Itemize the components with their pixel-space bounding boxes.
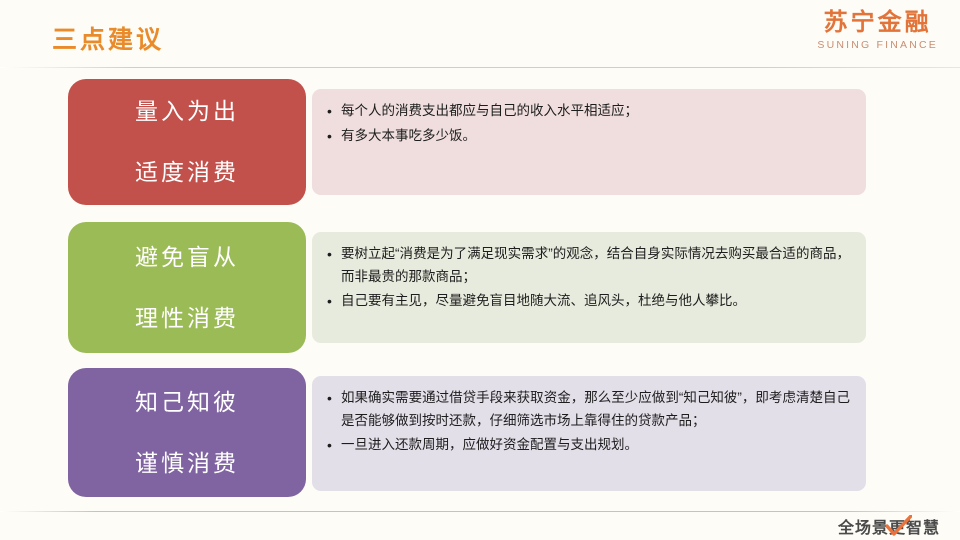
list-item: 每个人的消费支出都应与自己的收入水平相适应； (326, 100, 850, 123)
list-item: 有多大本事吃多少饭。 (326, 125, 850, 148)
brand-name-en: SUNING FINANCE (817, 40, 938, 51)
advice-card-3[interactable]: 知己知彼 谨慎消费 (68, 368, 306, 497)
advice-card-3-line-1: 知己知彼 (135, 391, 239, 414)
advice-card-2-line-2: 理性消费 (135, 307, 239, 330)
brand-name-cn: 苏宁金融 (817, 11, 938, 35)
check-mark-icon (886, 515, 912, 537)
advice-panel-3: 如果确实需要通过借贷手段来获取资金，那么至少应做到“知己知彼”，即考虑清楚自己是… (312, 376, 866, 491)
page-title: 三点建议 (52, 20, 164, 56)
advice-card-1[interactable]: 量入为出 适度消费 (68, 79, 306, 205)
brand-logo: 苏宁金融 SUNING FINANCE (817, 11, 938, 51)
advice-row-3: 知己知彼 谨慎消费 如果确实需要通过借贷手段来获取资金，那么至少应做到“知己知彼… (0, 368, 960, 497)
slide-canvas: 三点建议 苏宁金融 SUNING FINANCE 量入为出 适度消费 每个人的消… (0, 0, 960, 540)
header-divider (0, 67, 960, 68)
advice-card-1-line-2: 适度消费 (135, 161, 239, 184)
advice-row-2: 避免盲从 理性消费 要树立起“消费是为了满足现实需求”的观念，结合自身实际情况去… (0, 222, 960, 353)
list-item: 如果确实需要通过借贷手段来获取资金，那么至少应做到“知己知彼”，即考虑清楚自己是… (326, 387, 850, 432)
advice-panel-2: 要树立起“消费是为了满足现实需求”的观念，结合自身实际情况去购买最合适的商品，而… (312, 232, 866, 343)
list-item: 一旦进入还款周期，应做好资金配置与支出规划。 (326, 434, 850, 457)
advice-card-3-line-2: 谨慎消费 (135, 452, 239, 475)
advice-card-1-line-1: 量入为出 (135, 100, 239, 123)
slide-header: 三点建议 苏宁金融 SUNING FINANCE (0, 0, 960, 67)
advice-row-1: 量入为出 适度消费 每个人的消费支出都应与自己的收入水平相适应； 有多大本事吃多… (0, 79, 960, 205)
footer-tagline: 全场景更智慧 (838, 515, 940, 537)
list-item: 要树立起“消费是为了满足现实需求”的观念，结合自身实际情况去购买最合适的商品，而… (326, 243, 850, 288)
advice-card-2[interactable]: 避免盲从 理性消费 (68, 222, 306, 353)
advice-card-2-line-1: 避免盲从 (135, 246, 239, 269)
advice-panel-1: 每个人的消费支出都应与自己的收入水平相适应； 有多大本事吃多少饭。 (312, 89, 866, 195)
list-item: 自己要有主见，尽量避免盲目地随大流、追风头，杜绝与他人攀比。 (326, 290, 850, 313)
footer-divider (0, 511, 960, 512)
